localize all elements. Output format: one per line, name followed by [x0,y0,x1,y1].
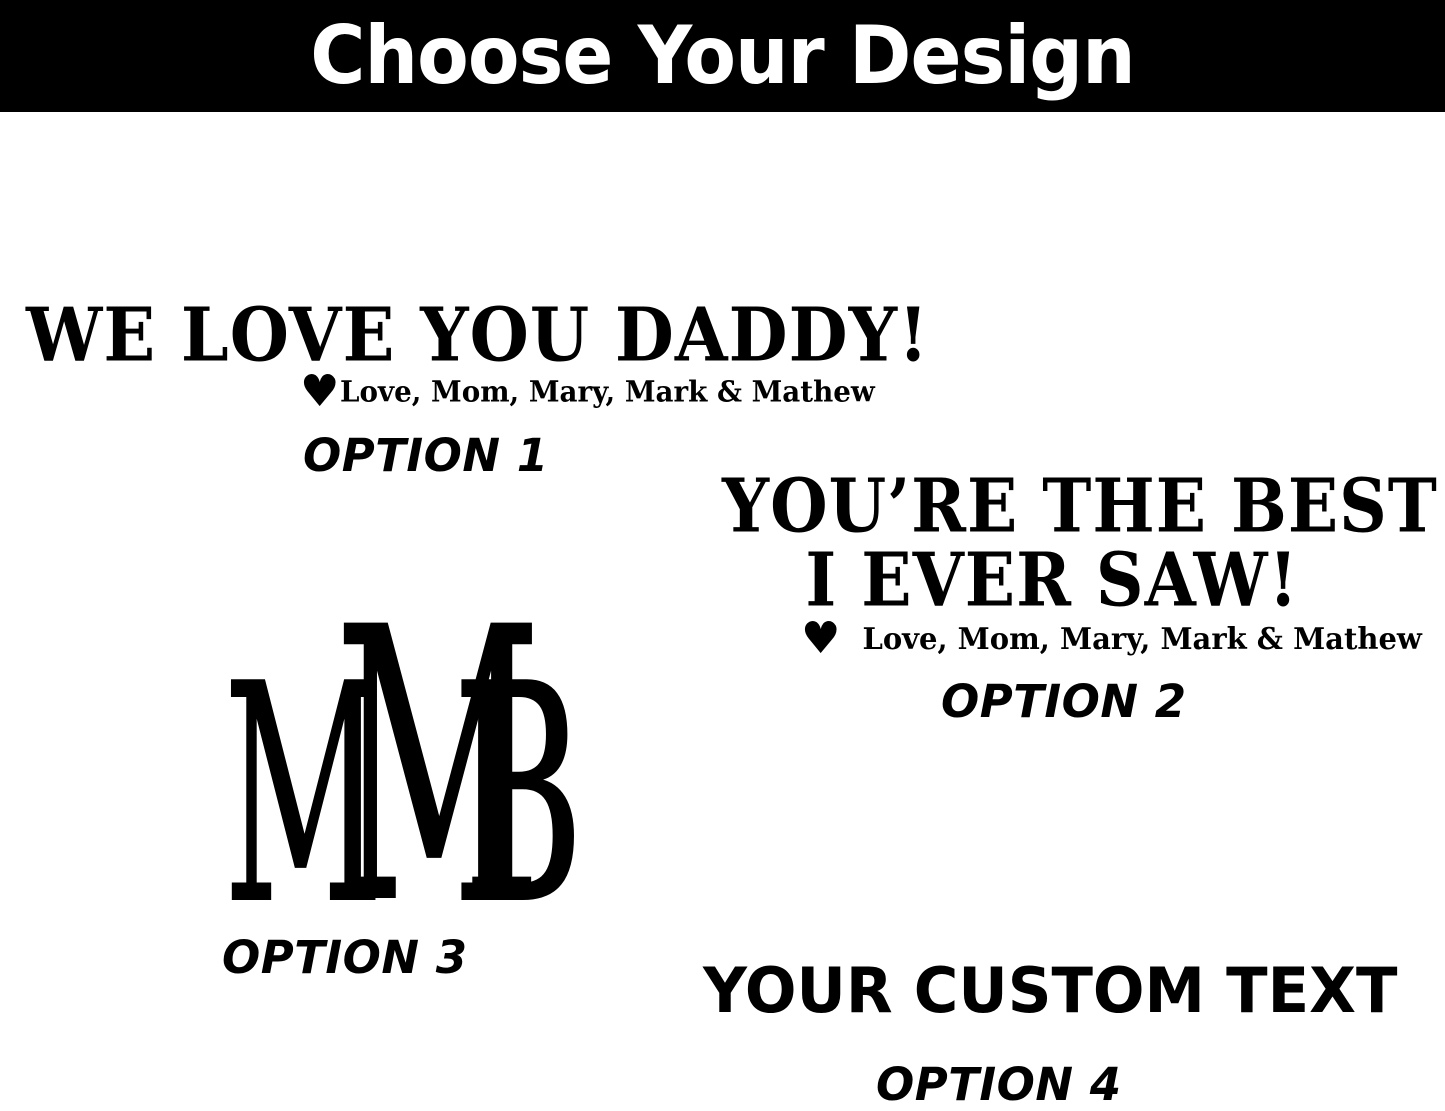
option-2-headline-line-1: YOU’RE THE BEST [722,469,1382,543]
option-2-signature: ♥ Love, Mom, Mary, Mark & Mathew [801,617,1422,661]
option-2-label: OPTION 2 [941,679,1187,724]
option-2-headline-line-2: I EVER SAW! [722,543,1382,617]
heart-icon: ♥ [300,370,339,414]
option-1-headline: WE LOVE YOU DADDY! [26,298,929,372]
monogram-right-initial: B [452,685,584,907]
option-4-label: OPTION 4 [876,1062,1122,1107]
option-2-headline: YOU’RE THE BEST I EVER SAW! [722,469,1382,617]
option-1-label: OPTION 1 [303,433,549,478]
option-4-headline: YOUR CUSTOM TEXT [703,960,1397,1022]
option-1-signature-text: Love, Mom, Mary, Mark & Mathew [340,377,875,406]
heart-icon: ♥ [801,617,840,661]
option-1-signature: ♥ Love, Mom, Mary, Mark & Mathew [300,370,881,414]
header-bar: Choose Your Design [0,0,1445,112]
option-3-label: OPTION 3 [222,935,468,980]
option-3-monogram: M M B [150,607,540,907]
design-options-canvas: WE LOVE YOU DADDY! ♥ Love, Mom, Mary, Ma… [0,112,1445,1084]
option-2-signature-text: Love, Mom, Mary, Mark & Mathew [862,624,1421,654]
page-title: Choose Your Design [310,16,1134,96]
